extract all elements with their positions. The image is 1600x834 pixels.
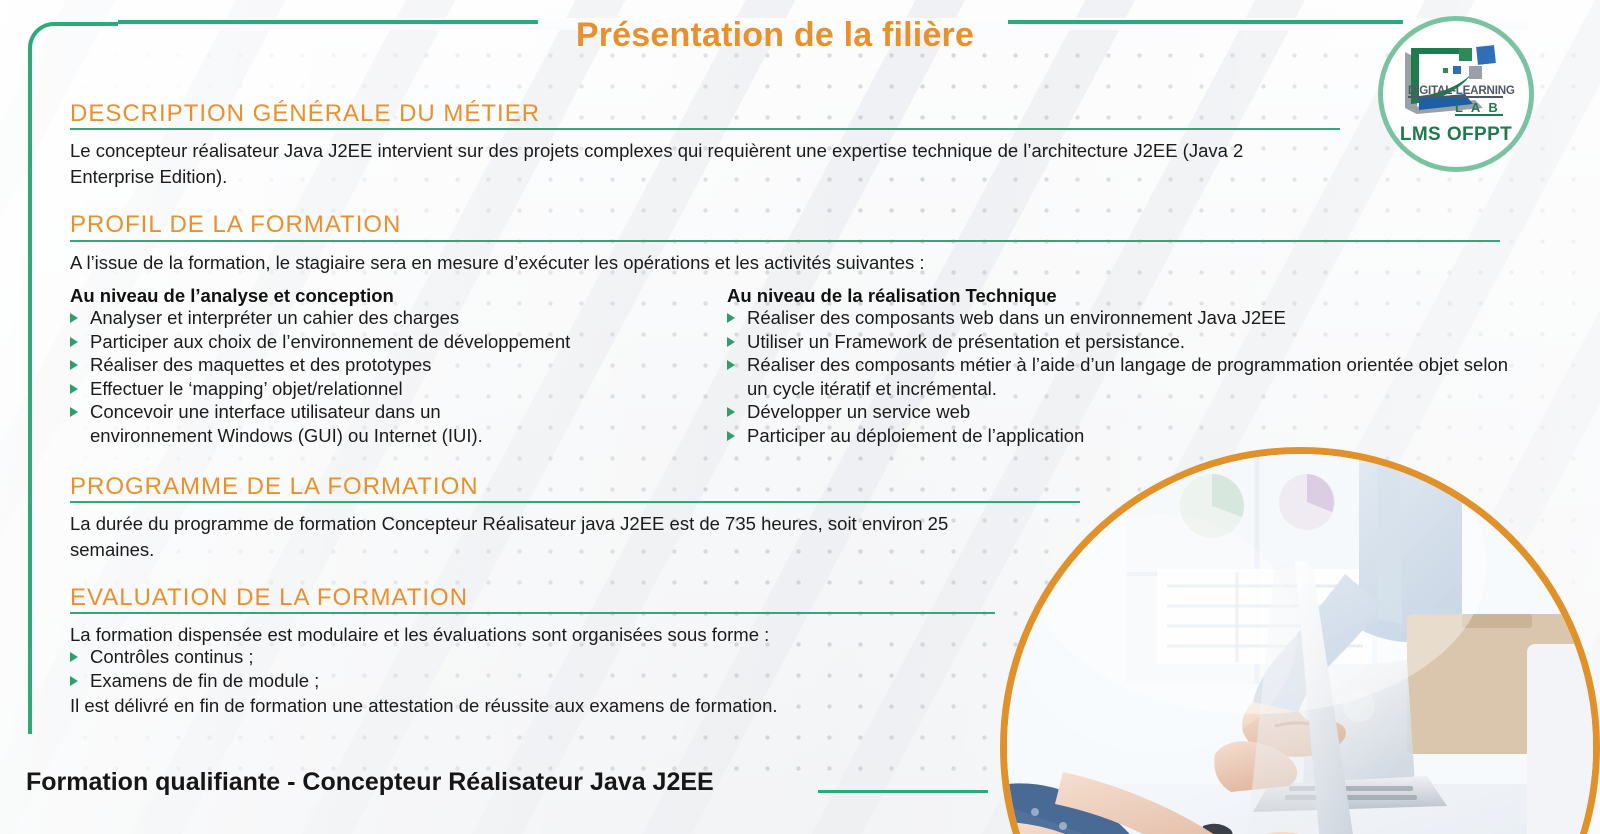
section-rule-description bbox=[70, 128, 1340, 130]
bullet-triangle-icon bbox=[727, 360, 735, 370]
frame-top-left-segment bbox=[118, 20, 538, 24]
logo-subtitle: LMS OFPPT bbox=[1400, 124, 1512, 146]
list-item-text: Utiliser un Framework de présentation et… bbox=[747, 331, 1185, 352]
frame-top-right-segment bbox=[1008, 20, 1403, 24]
list-item: Contrôles continus ; bbox=[70, 645, 670, 669]
list-item-text: Développer un service web bbox=[747, 401, 970, 422]
bullet-triangle-icon bbox=[70, 337, 78, 347]
profil-column-title-technique: Au niveau de la réalisation Technique bbox=[727, 285, 1057, 307]
bullet-triangle-icon bbox=[727, 313, 735, 323]
list-item: Participer aux choix de l’environnement … bbox=[70, 330, 720, 354]
bullet-triangle-icon bbox=[70, 407, 78, 417]
section-paragraph-programme: La durée du programme de formation Conce… bbox=[70, 511, 1025, 563]
svg-text:L A B: L A B bbox=[1455, 100, 1500, 115]
bullet-triangle-icon bbox=[70, 313, 78, 323]
list-item: Réaliser des composants métier à l’aide … bbox=[727, 353, 1517, 400]
list-item-text: Réaliser des maquettes et des prototypes bbox=[90, 354, 431, 375]
section-rule-profil bbox=[70, 240, 1500, 242]
list-item: Utiliser un Framework de présentation et… bbox=[727, 330, 1517, 354]
section-rule-programme bbox=[70, 501, 1080, 503]
poster-page: Présentation de la filière bbox=[0, 0, 1600, 834]
page-title: Présentation de la filière bbox=[545, 16, 1005, 55]
footer-title: Formation qualifiante - Concepteur Réali… bbox=[26, 768, 714, 797]
list-item-text: Analyser et interpréter un cahier des ch… bbox=[90, 307, 459, 328]
list-item: Effectuer le ‘mapping’ objet/relationnel bbox=[70, 377, 720, 401]
logo-content: DIGITAL-LEARNING L A B LMS OFPPT bbox=[1383, 21, 1529, 167]
logo-badge: DIGITAL-LEARNING L A B LMS OFPPT bbox=[1378, 16, 1534, 172]
list-item-text: Concevoir une interface utilisateur dans… bbox=[90, 401, 483, 446]
bullet-triangle-icon bbox=[70, 384, 78, 394]
list-item-text: Contrôles continus ; bbox=[90, 646, 254, 667]
bullet-triangle-icon bbox=[70, 676, 78, 686]
section-heading-programme: PROGRAMME DE LA FORMATION bbox=[70, 473, 479, 501]
hero-photo-circle bbox=[1000, 447, 1600, 834]
section-heading-profil: PROFIL DE LA FORMATION bbox=[70, 211, 401, 239]
list-item: Réaliser des composants web dans un envi… bbox=[727, 306, 1517, 330]
svg-text:DIGITAL-LEARNING: DIGITAL-LEARNING bbox=[1408, 84, 1515, 97]
list-item: Participer au déploiement de l’applicati… bbox=[727, 424, 1517, 448]
list-item-text: Réaliser des composants web dans un envi… bbox=[747, 307, 1286, 328]
section-intro-profil: A l’issue de la formation, le stagiaire … bbox=[70, 250, 1470, 276]
bullet-triangle-icon bbox=[727, 337, 735, 347]
list-item-text: Participer au déploiement de l’applicati… bbox=[747, 425, 1084, 446]
list-item: Réaliser des maquettes et des prototypes bbox=[70, 353, 720, 377]
list-item: Examens de fin de module ; bbox=[70, 669, 670, 693]
evaluation-list: Contrôles continus ; Examens de fin de m… bbox=[70, 645, 670, 692]
bullet-triangle-icon bbox=[727, 431, 735, 441]
list-item: Développer un service web bbox=[727, 400, 1517, 424]
profil-list-analyse: Analyser et interpréter un cahier des ch… bbox=[70, 306, 720, 447]
bullet-triangle-icon bbox=[727, 407, 735, 417]
section-heading-description: DESCRIPTION GÉNÉRALE DU MÉTIER bbox=[70, 100, 540, 128]
bullet-triangle-icon bbox=[70, 360, 78, 370]
list-item-text: Participer aux choix de l’environnement … bbox=[90, 331, 570, 352]
list-item-text: Examens de fin de module ; bbox=[90, 670, 319, 691]
digital-learning-lab-icon: DIGITAL-LEARNING L A B bbox=[1397, 42, 1515, 122]
list-item: Analyser et interpréter un cahier des ch… bbox=[70, 306, 720, 330]
section-closing-evaluation: Il est délivré en fin de formation une a… bbox=[70, 693, 970, 719]
section-rule-evaluation bbox=[70, 612, 995, 614]
profil-column-title-analyse: Au niveau de l’analyse et conception bbox=[70, 285, 394, 307]
list-item: Concevoir une interface utilisateur dans… bbox=[70, 400, 550, 447]
list-item-text: Réaliser des composants métier à l’aide … bbox=[747, 354, 1508, 399]
section-heading-evaluation: EVALUATION DE LA FORMATION bbox=[70, 584, 468, 612]
hero-photo bbox=[1007, 454, 1593, 834]
section-paragraph-description: Le concepteur réalisateur Java J2EE inte… bbox=[70, 138, 1245, 190]
footer-rule bbox=[818, 790, 988, 793]
list-item-text: Effectuer le ‘mapping’ objet/relationnel bbox=[90, 378, 403, 399]
bullet-triangle-icon bbox=[70, 652, 78, 662]
profil-list-technique: Réaliser des composants web dans un envi… bbox=[727, 306, 1517, 447]
